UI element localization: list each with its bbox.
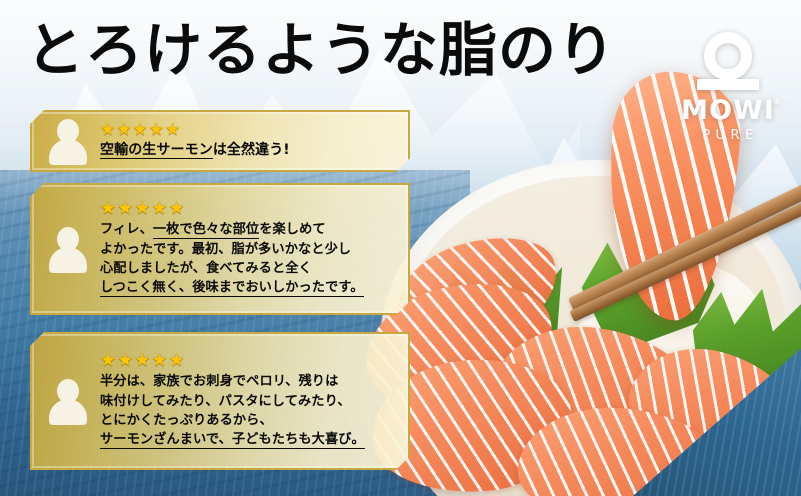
star-rating: ★★★★★ — [100, 121, 394, 138]
review-text-run: とにかくたっぷりあるから、 — [100, 413, 273, 428]
review-text: 半分は、家族でお刺身でペロリ、残りは味付けしてみたり、パスタにしてみたり、とにか… — [100, 372, 394, 450]
review-line: よかったです。最初、脂が多いかなと少し — [100, 240, 394, 259]
avatar-body-icon — [49, 139, 87, 165]
page-title: とろけるような脂のり — [26, 22, 616, 80]
review-line: 空輸の生サーモンは全然違う! — [100, 140, 394, 161]
review-card: ★★★★★ 半分は、家族でお刺身でペロリ、残りは味付けしてみたり、パスタにしてみ… — [30, 332, 410, 470]
star-rating: ★★★★★ — [100, 351, 394, 369]
review-card: ★★★★★ フィレ、一枚で色々な部位を楽しめてよかったです。最初、脂が多いかなと… — [30, 183, 410, 315]
review-body: ★★★★★ 半分は、家族でお刺身でペロリ、残りは味付けしてみたり、パスタにしてみ… — [100, 351, 394, 450]
review-text: フィレ、一枚で色々な部位を楽しめてよかったです。最初、脂が多いかなと少し心配しま… — [100, 220, 394, 298]
registered-mark: ® — [773, 98, 782, 106]
review-text-underlined: しつこく無く、後味までおいしかったです。 — [100, 280, 364, 297]
avatar — [46, 225, 90, 273]
review-text-underlined: 空輸の生サーモン — [100, 142, 213, 160]
logo-bar-shape — [697, 79, 759, 90]
star-rating: ★★★★★ — [100, 199, 394, 217]
review-card: ★★★★★ 空輸の生サーモンは全然違う! — [30, 110, 410, 172]
avatar-body-icon — [49, 399, 87, 425]
review-text-run: よかったです。最初、脂が多いかなと少し — [100, 242, 351, 257]
review-line: フィレ、一枚で色々な部位を楽しめて — [100, 220, 394, 239]
review-line: 半分は、家族でお刺身でペロリ、残りは — [100, 372, 394, 391]
logo-wordmark-text: MOWI — [681, 95, 775, 126]
review-text: 空輸の生サーモンは全然違う! — [100, 140, 394, 161]
review-body: ★★★★★ フィレ、一枚で色々な部位を楽しめてよかったです。最初、脂が多いかなと… — [100, 199, 394, 298]
review-text-run: 半分は、家族でお刺身でペロリ、残りは — [100, 374, 338, 389]
logo-ring-shape — [704, 32, 752, 80]
mowi-omega-ring-icon — [697, 32, 759, 90]
logo-tagline: PURE — [697, 129, 759, 142]
avatar — [46, 377, 90, 425]
review-line: しつこく無く、後味までおいしかったです。 — [100, 278, 394, 297]
review-line: サーモンざんまいで、子どもたちも大喜び。 — [100, 430, 394, 449]
review-text-run: は全然違う! — [213, 142, 290, 158]
promo-banner: とろけるような脂のり MOWI® PURE ★★★★★ 空輸の生サーモンは全然違… — [0, 0, 801, 496]
review-text-run: を楽しめて — [259, 222, 325, 237]
review-text-run: フィレ、 — [100, 222, 153, 237]
review-line: とにかくたっぷりあるから、 — [100, 411, 394, 430]
logo-wordmark: MOWI® — [681, 97, 775, 124]
mowi-logo: MOWI® PURE — [676, 32, 780, 142]
review-text-underlined: 一枚で色々な部位 — [153, 222, 259, 239]
review-line: 心配しましたが、食べてみると全く — [100, 259, 394, 278]
review-text-run: 心配しましたが、食べてみると全く — [100, 261, 312, 276]
avatar-body-icon — [49, 247, 87, 273]
review-text-underlined: サーモンざんまいで、子どもたちも大喜び。 — [100, 432, 365, 449]
avatar — [46, 117, 90, 165]
review-body: ★★★★★ 空輸の生サーモンは全然違う! — [100, 121, 394, 161]
review-text-run: 味付けしてみたり、パスタにしてみたり、 — [100, 394, 351, 409]
review-line: 味付けしてみたり、パスタにしてみたり、 — [100, 392, 394, 411]
